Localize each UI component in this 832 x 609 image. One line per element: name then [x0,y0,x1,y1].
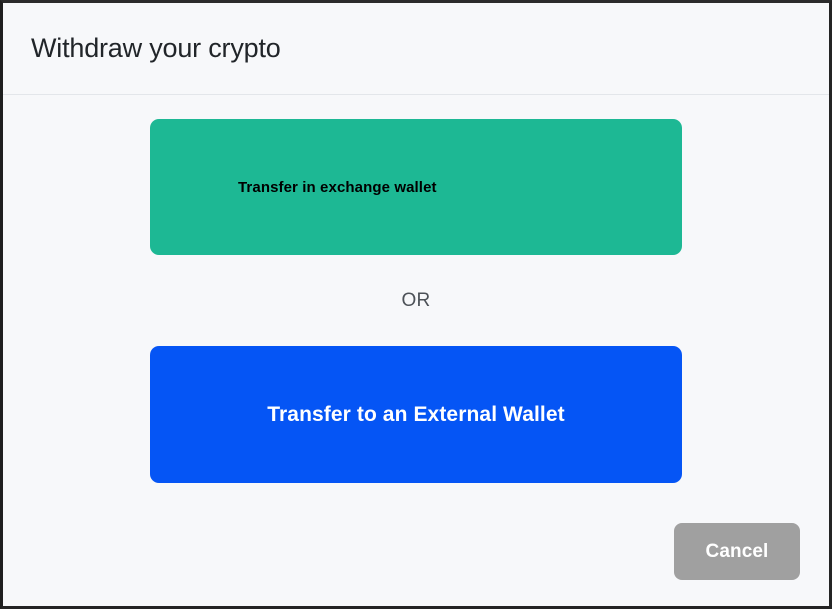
modal-title: Withdraw your crypto [31,33,281,64]
modal-header: Withdraw your crypto [3,3,829,95]
transfer-in-exchange-wallet-button[interactable]: Transfer in exchange wallet [150,119,682,255]
cancel-button[interactable]: Cancel [674,523,800,580]
or-separator-label: OR [3,288,829,314]
modal-footer: Cancel [3,520,829,606]
transfer-to-external-wallet-label: Transfer to an External Wallet [267,403,564,427]
transfer-in-exchange-wallet-label: Transfer in exchange wallet [238,179,437,196]
browser-window: Withdraw your crypto Transfer in exchang… [0,0,832,609]
withdraw-crypto-modal: Withdraw your crypto Transfer in exchang… [3,3,829,606]
transfer-to-external-wallet-button[interactable]: Transfer to an External Wallet [150,346,682,483]
